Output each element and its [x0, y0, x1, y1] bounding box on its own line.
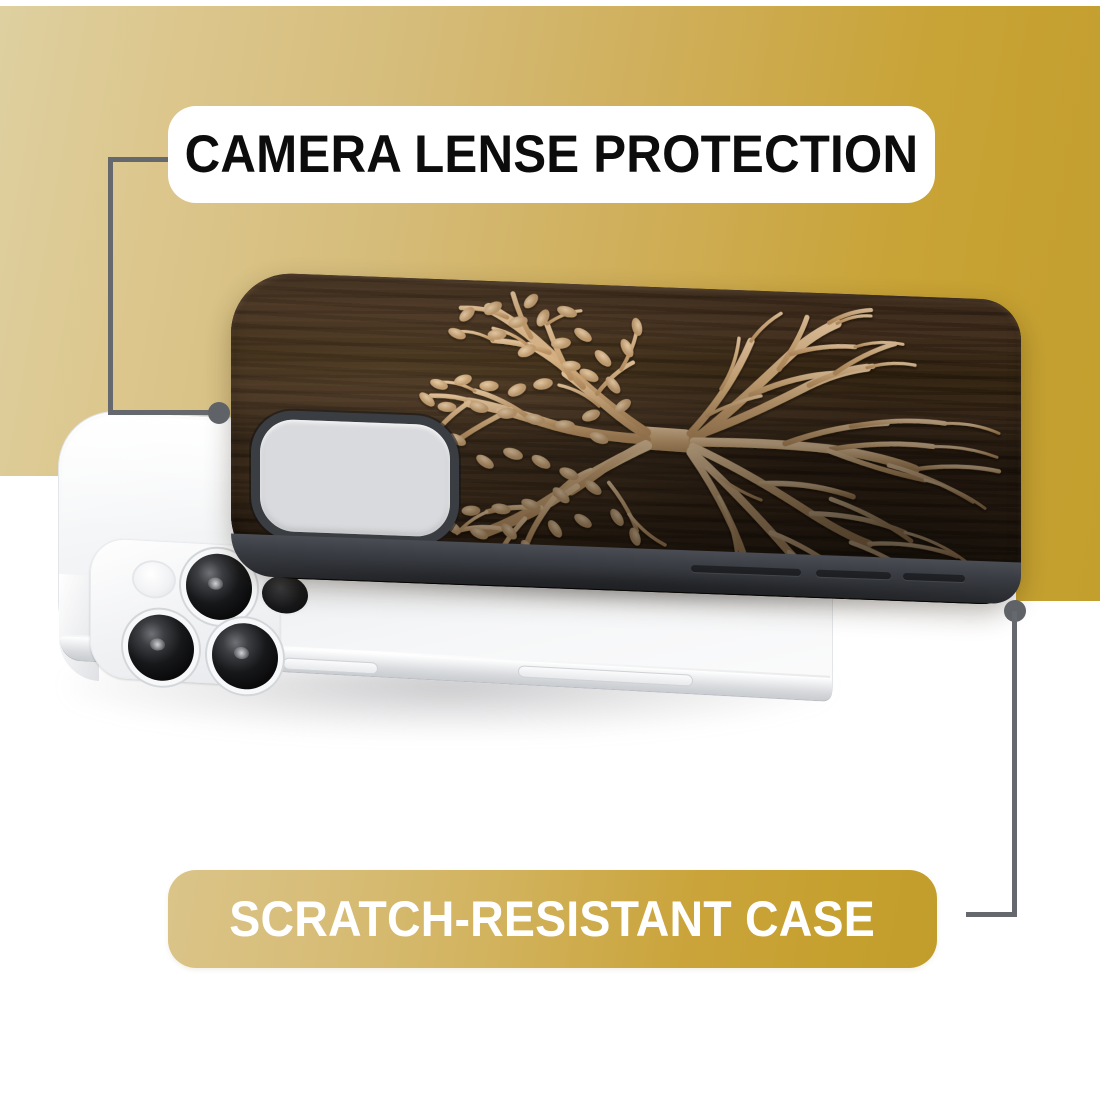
badge-camera-lens-protection: CAMERA LENSE PROTECTION	[168, 106, 935, 203]
camera-lens-cutout	[260, 419, 450, 538]
camera-lens-2	[128, 613, 194, 683]
connector-line-horizontal-top	[108, 157, 170, 162]
product-feature-graphic: CAMERA LENSE PROTECTION SCRATCH-RESISTAN…	[0, 0, 1100, 1100]
badge-bottom-label: SCRATCH-RESISTANT CASE	[230, 894, 876, 944]
connector-line-horizontal-bottom	[108, 410, 220, 415]
badge-top-label: CAMERA LENSE PROTECTION	[185, 128, 919, 181]
wooden-phone-case	[231, 286, 1021, 591]
camera-flash-icon	[134, 561, 174, 597]
callout-dot-camera-lens	[208, 402, 230, 424]
badge-scratch-resistant-case: SCRATCH-RESISTANT CASE	[168, 870, 937, 968]
background-gold-right-extension	[1016, 6, 1100, 601]
connector-line-horizontal-right	[966, 912, 1017, 917]
camera-lens-3	[212, 621, 278, 691]
connector-line-vertical	[108, 157, 113, 415]
connector-line-vertical-right	[1012, 611, 1017, 917]
